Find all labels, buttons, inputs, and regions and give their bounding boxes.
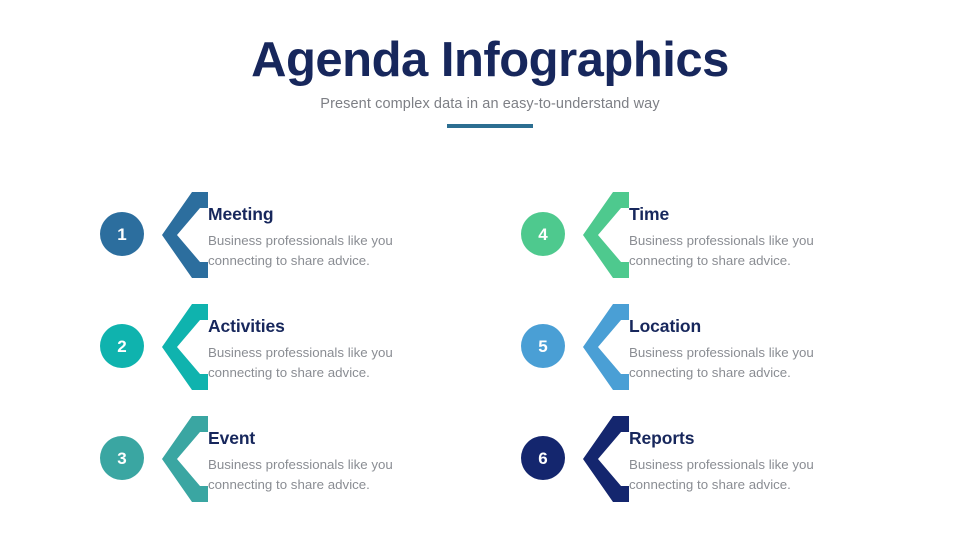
chevron-left-icon-3 (162, 416, 208, 502)
agenda-item-5-text: Location Business professionals like you… (629, 298, 942, 383)
chevron-left-icon-2 (162, 304, 208, 390)
chevron-left-icon-6 (583, 416, 629, 502)
agenda-items-grid: 1 Meeting Business professionals like yo… (0, 186, 980, 522)
agenda-item-4-title: Time (629, 204, 942, 225)
number-circle-4: 4 (521, 212, 565, 256)
agenda-item-6-text: Reports Business professionals like you … (629, 410, 942, 495)
agenda-item-5-description: Business professionals like you connecti… (629, 343, 844, 383)
agenda-item-6[interactable]: 6 Reports Business professionals like yo… (521, 410, 942, 522)
agenda-item-3-title: Event (208, 428, 521, 449)
agenda-item-3[interactable]: 3 Event Business professionals like you … (100, 410, 521, 522)
page-subtitle: Present complex data in an easy-to-under… (0, 96, 980, 112)
number-circle-1: 1 (100, 212, 144, 256)
agenda-item-1-title: Meeting (208, 204, 521, 225)
agenda-item-6-title: Reports (629, 428, 942, 449)
agenda-item-2[interactable]: 2 Activities Business professionals like… (100, 298, 521, 410)
chevron-left-icon-4 (583, 192, 629, 278)
number-label-1: 1 (117, 226, 126, 243)
agenda-item-4-badge: 4 (521, 186, 629, 282)
agenda-item-2-title: Activities (208, 316, 521, 337)
title-divider (447, 124, 533, 128)
agenda-item-3-description: Business professionals like you connecti… (208, 455, 423, 495)
number-label-5: 5 (538, 338, 547, 355)
number-circle-5: 5 (521, 324, 565, 368)
agenda-item-4-text: Time Business professionals like you con… (629, 186, 942, 271)
agenda-item-5[interactable]: 5 Location Business professionals like y… (521, 298, 942, 410)
agenda-item-1-text: Meeting Business professionals like you … (208, 186, 521, 271)
chevron-left-icon-5 (583, 304, 629, 390)
page-title: Agenda Infographics (0, 34, 980, 87)
agenda-item-3-text: Event Business professionals like you co… (208, 410, 521, 495)
agenda-item-1[interactable]: 1 Meeting Business professionals like yo… (100, 186, 521, 298)
agenda-item-6-description: Business professionals like you connecti… (629, 455, 844, 495)
agenda-item-2-description: Business professionals like you connecti… (208, 343, 423, 383)
agenda-item-2-badge: 2 (100, 298, 208, 394)
agenda-item-5-title: Location (629, 316, 942, 337)
agenda-item-1-description: Business professionals like you connecti… (208, 231, 423, 271)
agenda-item-5-badge: 5 (521, 298, 629, 394)
number-circle-6: 6 (521, 436, 565, 480)
agenda-item-3-badge: 3 (100, 410, 208, 506)
number-label-6: 6 (538, 450, 547, 467)
number-label-3: 3 (117, 450, 126, 467)
agenda-item-4[interactable]: 4 Time Business professionals like you c… (521, 186, 942, 298)
agenda-item-2-text: Activities Business professionals like y… (208, 298, 521, 383)
agenda-item-4-description: Business professionals like you connecti… (629, 231, 844, 271)
agenda-item-6-badge: 6 (521, 410, 629, 506)
agenda-item-1-badge: 1 (100, 186, 208, 282)
number-label-2: 2 (117, 338, 126, 355)
chevron-left-icon-1 (162, 192, 208, 278)
number-circle-2: 2 (100, 324, 144, 368)
slide-header: Agenda Infographics Present complex data… (0, 34, 980, 128)
agenda-infographic-slide: Agenda Infographics Present complex data… (0, 0, 980, 551)
number-label-4: 4 (538, 226, 547, 243)
number-circle-3: 3 (100, 436, 144, 480)
